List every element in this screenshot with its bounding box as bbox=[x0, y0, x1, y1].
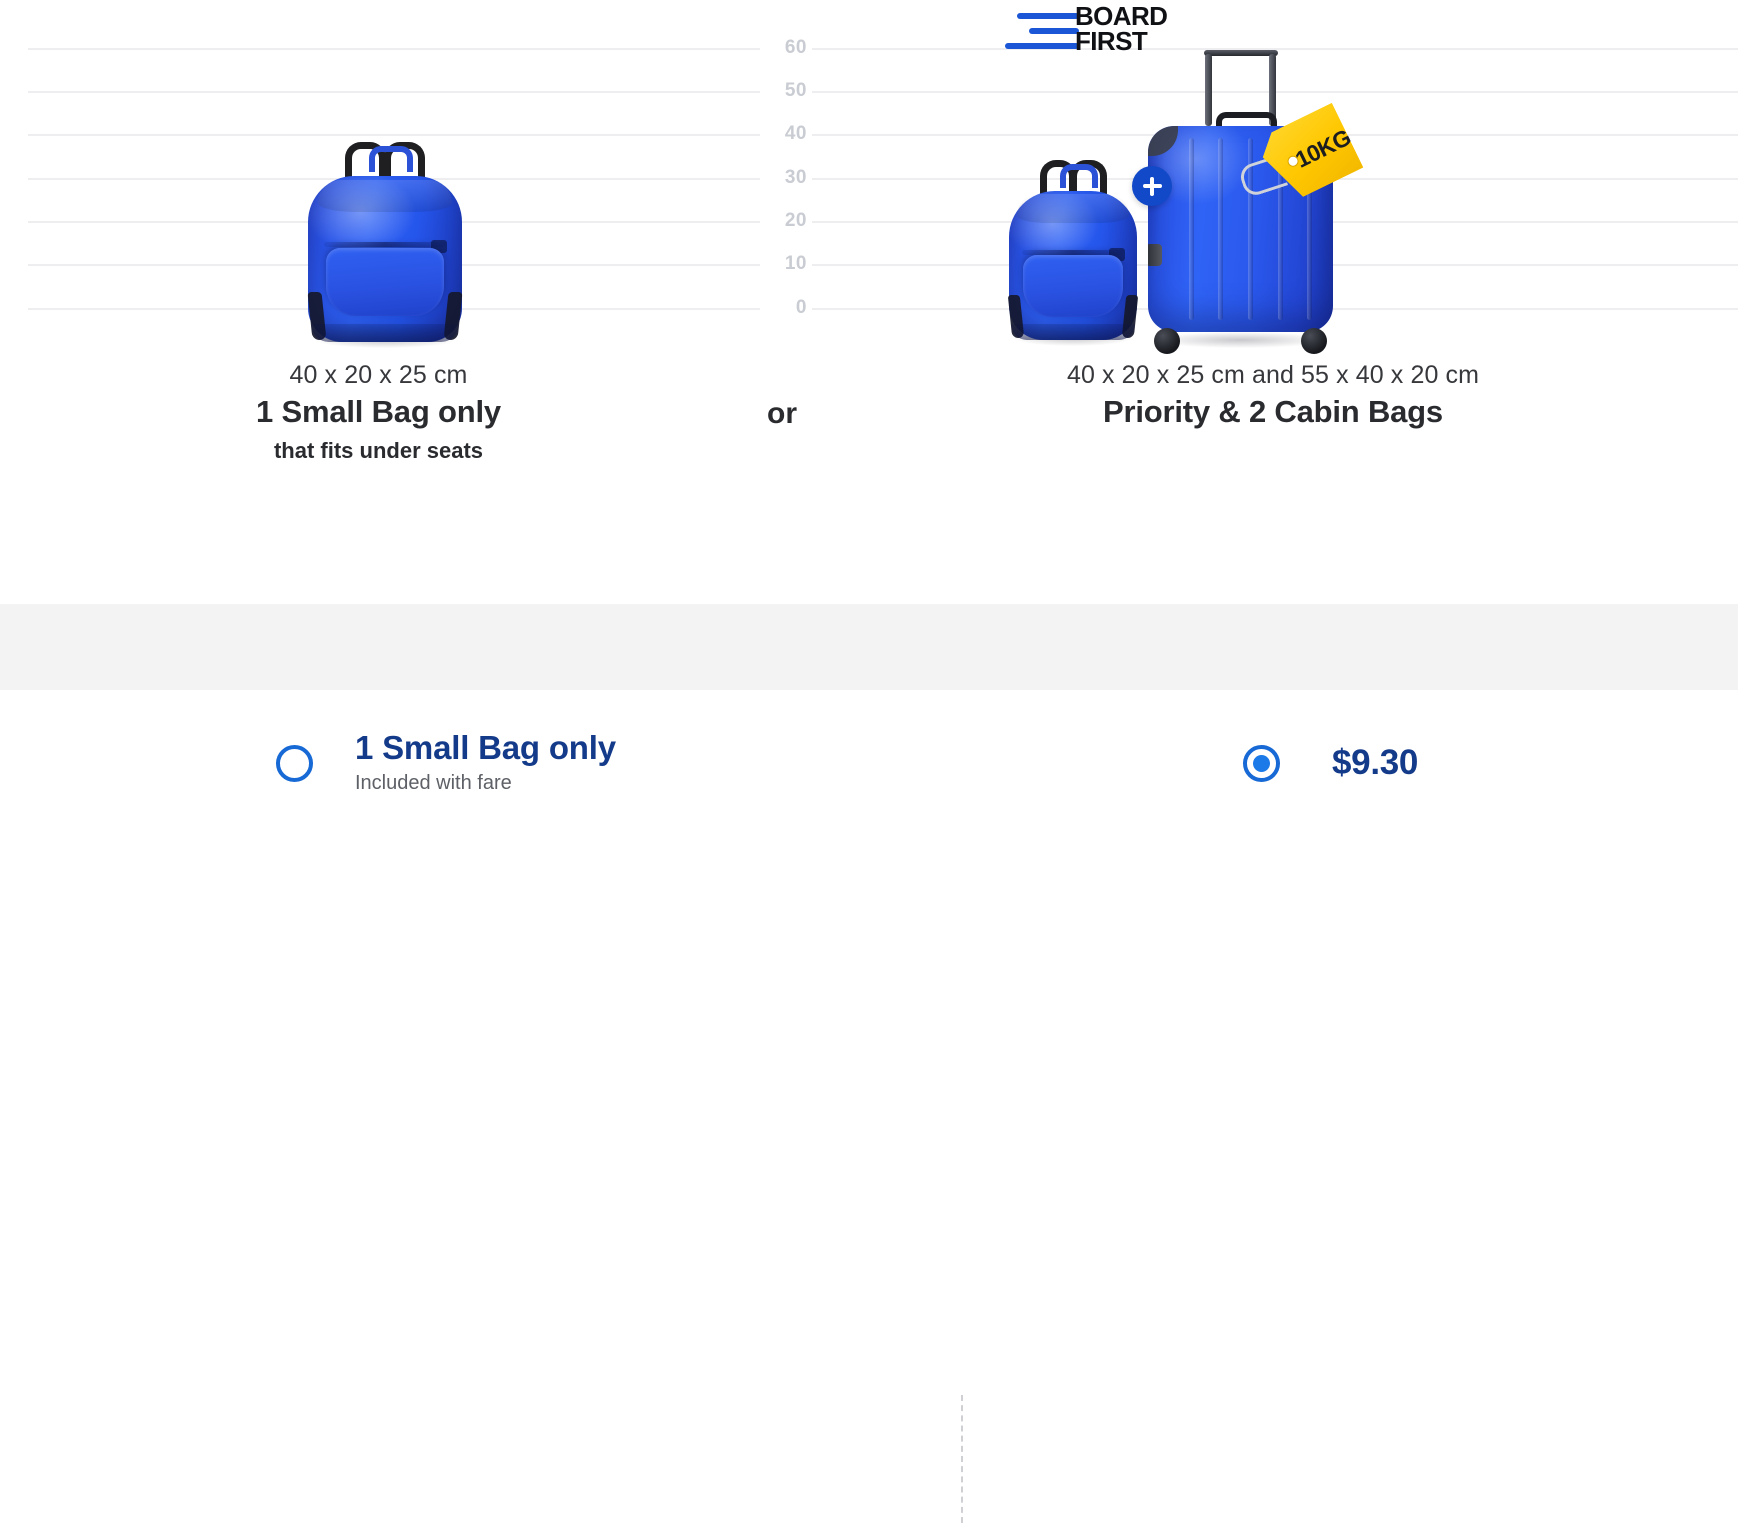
radio-dot bbox=[1253, 755, 1270, 772]
backpack-zipper bbox=[324, 242, 446, 247]
backpack-illustration bbox=[305, 142, 465, 342]
backpack-top-seam bbox=[318, 180, 452, 212]
scale-tick-0: 0 bbox=[760, 297, 812, 319]
backpack-illustration-small bbox=[1006, 160, 1140, 340]
backpack-top-seam bbox=[1017, 194, 1130, 223]
backpack-base bbox=[311, 324, 458, 342]
radio-button-priority[interactable] bbox=[1243, 745, 1280, 782]
scale-tick-40: 40 bbox=[760, 123, 812, 145]
scale-tick-10: 10 bbox=[760, 253, 812, 275]
baggage-selector: 60 50 40 30 20 10 0 bbox=[0, 0, 1738, 836]
suitcase-handle-post-left bbox=[1205, 54, 1212, 126]
small-bag-choice-text: 1 Small Bag only Included with fare bbox=[355, 731, 616, 795]
priority-bags-title: Priority & 2 Cabin Bags bbox=[808, 394, 1738, 430]
priority-bags-artwork: BOARD FIRST bbox=[808, 0, 1738, 345]
backpack-front-pocket bbox=[326, 248, 444, 316]
baggage-selection-row: 1 Small Bag only Included with fare $9.3… bbox=[0, 690, 1738, 836]
small-bag-choice-subtitle: Included with fare bbox=[355, 772, 616, 795]
radio-option-priority[interactable]: $9.30 bbox=[1243, 690, 1418, 836]
small-bag-title: 1 Small Bag only bbox=[0, 394, 757, 430]
plus-icon bbox=[1132, 166, 1172, 206]
scale-tick-60: 60 bbox=[760, 37, 812, 59]
radio-option-small-bag[interactable]: 1 Small Bag only Included with fare bbox=[276, 690, 616, 836]
speed-lines-icon bbox=[1013, 13, 1079, 55]
vertical-divider bbox=[961, 1395, 963, 1523]
speed-line bbox=[1005, 43, 1079, 49]
priority-bags-dimensions: 40 x 20 x 25 cm and 55 x 40 x 20 cm bbox=[808, 361, 1738, 390]
speed-line bbox=[1017, 13, 1079, 19]
scale-tick-30: 30 bbox=[760, 167, 812, 189]
section-spacer bbox=[0, 604, 1738, 690]
small-bag-artwork bbox=[0, 0, 757, 345]
backpack-front-pocket bbox=[1023, 255, 1122, 316]
cabin-suitcase-illustration: 10KG bbox=[1148, 50, 1333, 342]
scale-tick-20: 20 bbox=[760, 210, 812, 232]
suitcase-rib bbox=[1218, 138, 1223, 319]
radio-button-small-bag[interactable] bbox=[276, 745, 313, 782]
suitcase-telescopic-handle-bar bbox=[1204, 50, 1278, 56]
suitcase-rib bbox=[1189, 138, 1194, 319]
small-bag-dimensions: 40 x 20 x 25 cm bbox=[0, 361, 757, 390]
backpack-base bbox=[1011, 324, 1134, 340]
backpack-handle bbox=[1060, 164, 1099, 188]
option-small-bag[interactable]: 40 x 20 x 25 cm 1 Small Bag only that fi… bbox=[0, 0, 757, 604]
suitcase-wheel bbox=[1301, 328, 1327, 354]
priority-price: $9.30 bbox=[1332, 743, 1418, 783]
small-bag-subtitle: that fits under seats bbox=[0, 438, 757, 464]
baggage-illustration-panel: 60 50 40 30 20 10 0 bbox=[0, 0, 1738, 604]
backpack-handle bbox=[369, 146, 413, 172]
suitcase-wheel bbox=[1154, 328, 1180, 354]
board-first-line-2: FIRST bbox=[1075, 29, 1167, 54]
or-label: or bbox=[767, 397, 797, 431]
small-bag-choice-title: 1 Small Bag only bbox=[355, 731, 616, 766]
suitcase-latch bbox=[1148, 244, 1162, 266]
board-first-text: BOARD FIRST bbox=[1075, 4, 1167, 55]
or-separator-badge: or bbox=[749, 381, 815, 447]
board-first-badge: BOARD FIRST bbox=[1013, 4, 1203, 64]
option-priority-two-bags[interactable]: BOARD FIRST bbox=[808, 0, 1738, 604]
scale-tick-50: 50 bbox=[760, 80, 812, 102]
speed-line bbox=[1029, 28, 1079, 34]
suitcase-corner-guard bbox=[1148, 126, 1178, 156]
